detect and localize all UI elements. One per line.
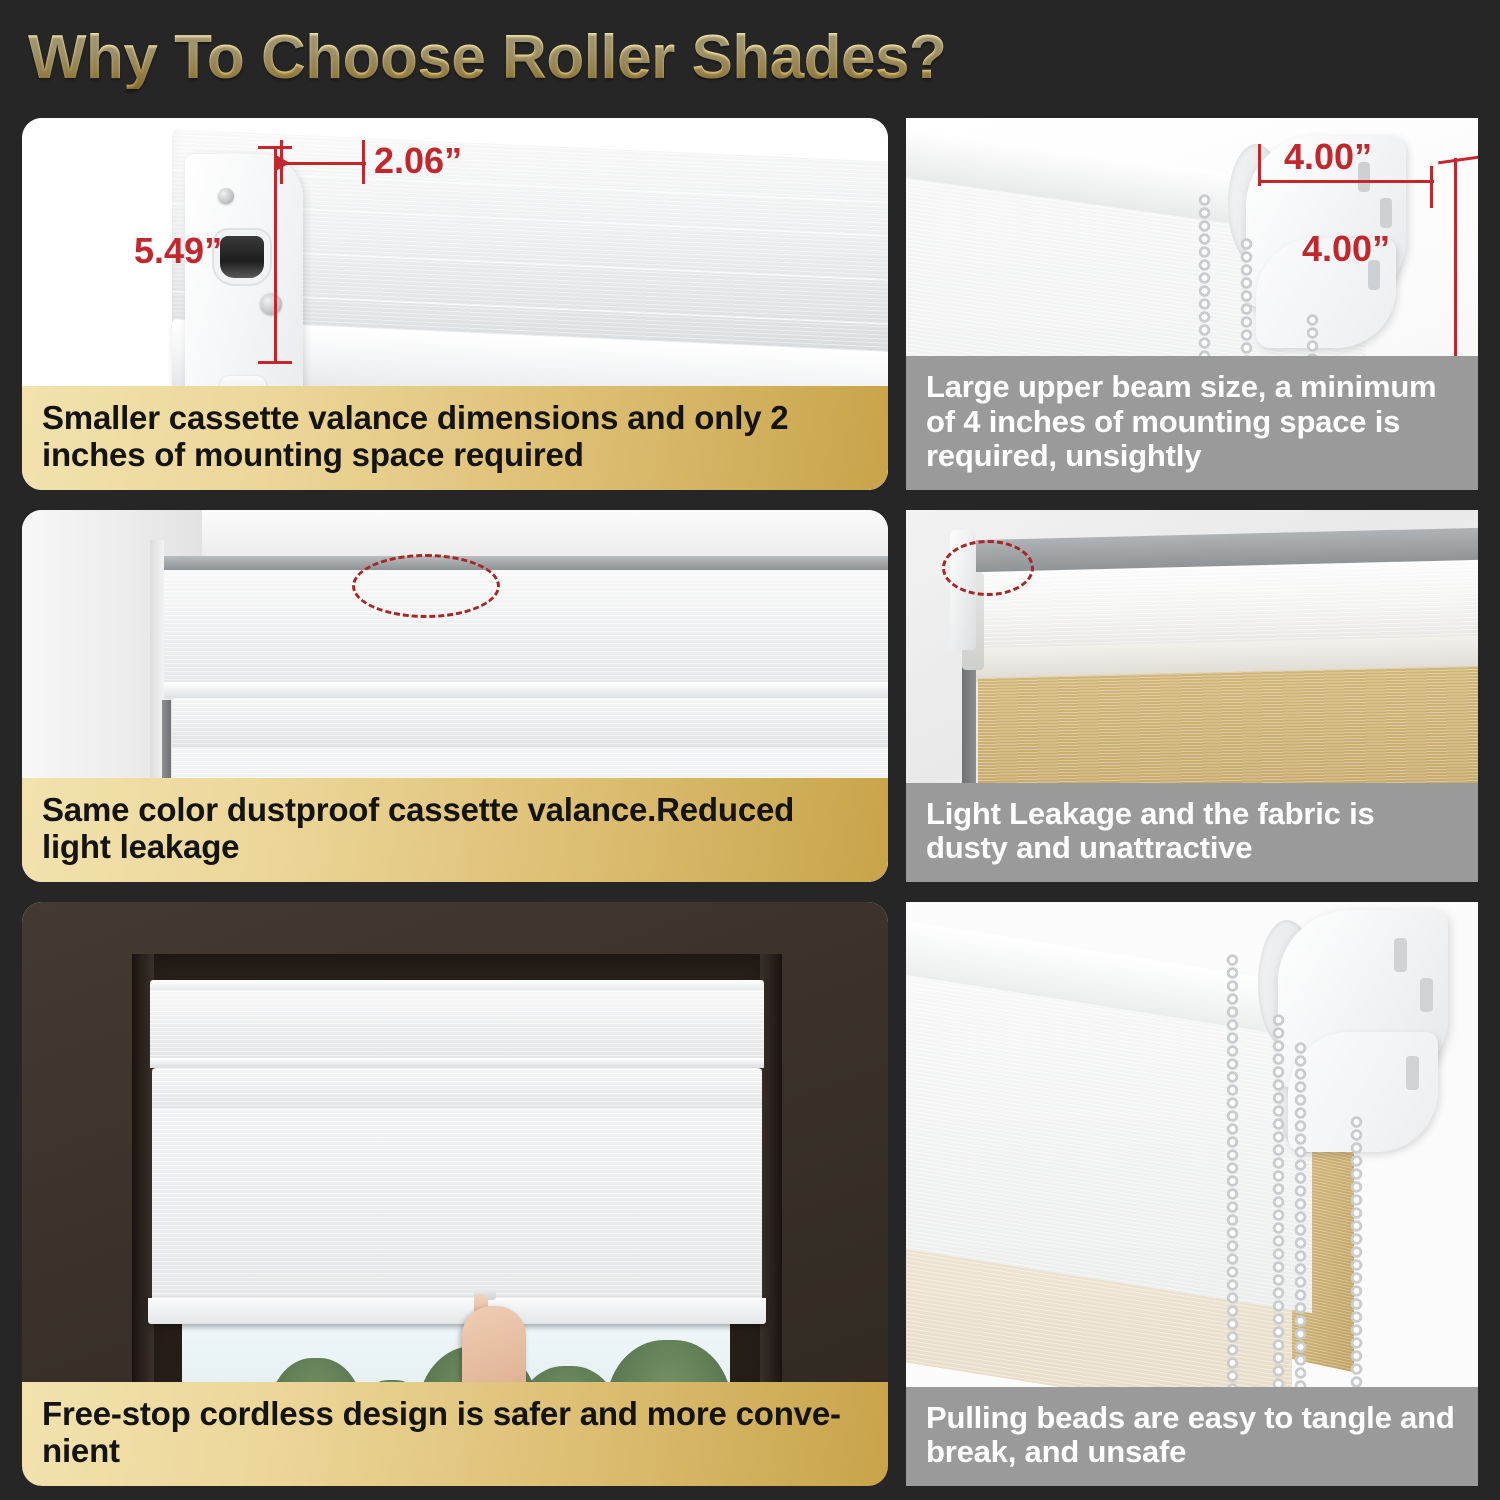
shade-fabric	[152, 1108, 762, 1304]
cassette-valance	[164, 570, 888, 688]
panel-caption-text: Large upper beam size, a minimum of 4 in…	[926, 370, 1460, 474]
comparison-grid: 2.06” 5.49” Smaller cassette valance dim…	[22, 118, 1478, 1486]
head-rail	[164, 556, 888, 570]
panel-caption: Same color dustproof cassette valance.Re…	[22, 778, 888, 882]
panel-caption-text: Light Leakage and the fabric is dusty an…	[926, 797, 1460, 866]
screw-icon	[218, 188, 234, 204]
dimension-label-width: 4.00”	[1284, 136, 1372, 178]
cassette-valance	[150, 990, 764, 1062]
panel-caption-text: Smaller cassette valance dimensions and …	[42, 400, 870, 474]
bottom-rail	[148, 1298, 766, 1324]
panel-pulling-beads: Pulling beads are easy to tangle and bre…	[906, 902, 1478, 1486]
panel-cordless-design: Free-stop cordless design is safer and m…	[22, 902, 888, 1486]
comparison-row-3: Free-stop cordless design is safer and m…	[22, 902, 1478, 1486]
panel-caption-text: Free-stop cordless design is safer and m…	[42, 1396, 870, 1470]
bead-chain	[1294, 1042, 1307, 1428]
mounting-bracket-lower	[1288, 1032, 1438, 1152]
panel-caption: Light Leakage and the fabric is dusty an…	[906, 783, 1478, 882]
highlight-ellipse	[352, 554, 500, 618]
dimension-label-width: 2.06”	[374, 140, 462, 182]
highlight-ellipse	[942, 540, 1034, 596]
bead-chain	[1272, 1014, 1285, 1428]
dimension-label-height: 4.00”	[1302, 228, 1390, 270]
bead-chain	[1226, 954, 1239, 1424]
panel-caption-text: Same color dustproof cassette valance.Re…	[42, 792, 870, 866]
roller-tube	[152, 1068, 762, 1112]
panel-caption-text: Pulling beads are easy to tangle and bre…	[926, 1401, 1460, 1470]
cassette-slot	[220, 236, 264, 278]
dimension-label-height: 5.49”	[134, 230, 222, 272]
panel-caption: Smaller cassette valance dimensions and …	[22, 386, 888, 490]
panel-dustproof-cassette: smaller gap Same color dustproof cassett…	[22, 510, 888, 882]
panel-light-leakage: Large gap Light Leakage and the fabric i…	[906, 510, 1478, 882]
panel-cassette-dimensions: 2.06” 5.49” Smaller cassette valance dim…	[22, 118, 888, 490]
page-title-text: Why To Choose Roller Shades?	[28, 27, 946, 89]
panel-large-upper-beam: 4.00” 4.00” Large upper beam size, a min…	[906, 118, 1478, 490]
page-title: Why To Choose Roller Shades?	[28, 18, 1468, 98]
bead-chain	[1350, 1116, 1363, 1426]
panel-caption: Free-stop cordless design is safer and m…	[22, 1382, 888, 1486]
comparison-row-2: smaller gap Same color dustproof cassett…	[22, 510, 1478, 882]
panel-caption: Large upper beam size, a minimum of 4 in…	[906, 356, 1478, 490]
panel-caption: Pulling beads are easy to tangle and bre…	[906, 1387, 1478, 1486]
comparison-row-1: 2.06” 5.49” Smaller cassette valance dim…	[22, 118, 1478, 490]
roller-tube	[172, 698, 888, 754]
screw-icon	[260, 293, 282, 315]
